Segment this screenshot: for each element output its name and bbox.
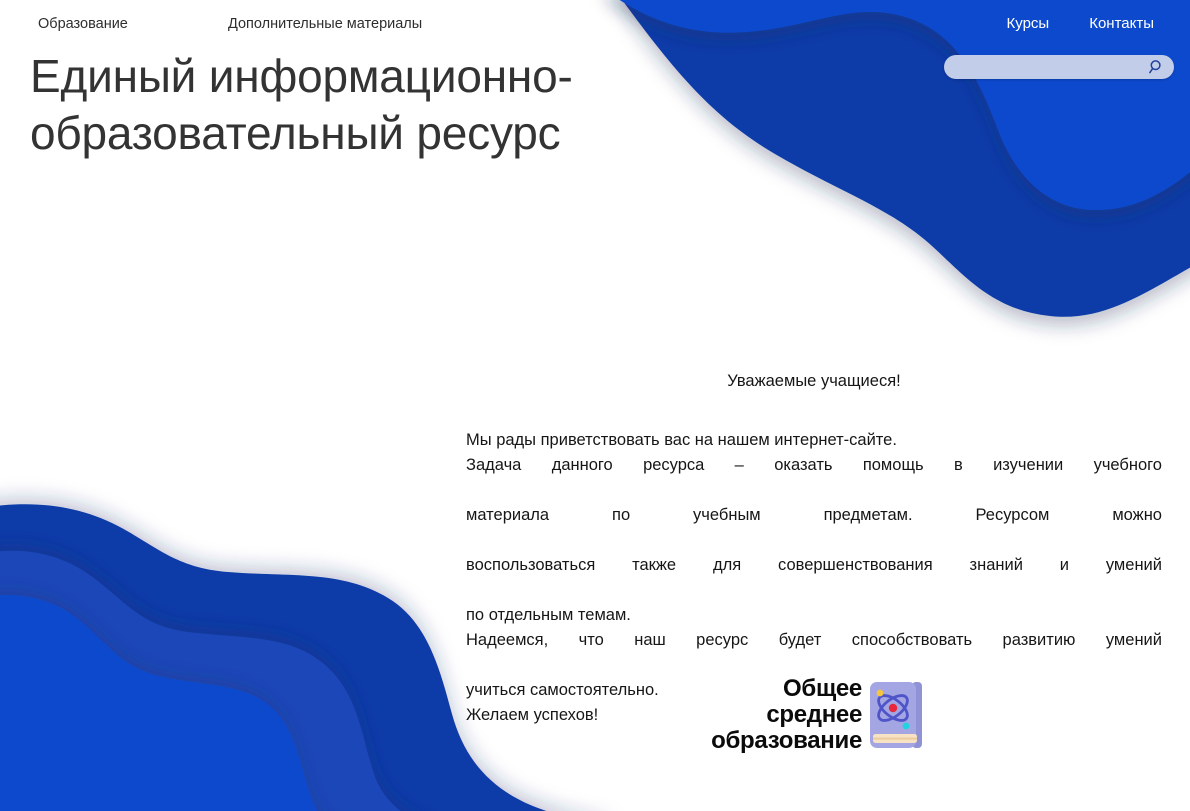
nav-link-contacts[interactable]: Контакты: [1089, 15, 1154, 33]
logo-text: Общее среднее образование: [711, 676, 862, 754]
body-line: воспользоваться также для совершенствова…: [466, 553, 1162, 603]
logo-line-2: среднее: [711, 702, 862, 728]
nav-link-courses[interactable]: Курсы: [1007, 15, 1050, 33]
decorative-wave-top-right: [560, 0, 1190, 356]
top-navigation: Образование Дополнительные материалы Кур…: [0, 0, 1190, 46]
nav-link-extra-materials[interactable]: Дополнительные материалы: [228, 15, 422, 33]
body-line: Мы рады приветствовать вас на нашем инте…: [466, 428, 1162, 453]
greeting-text: Уважаемые учащиеся!: [466, 370, 1162, 392]
page-root: Образование Дополнительные материалы Кур…: [0, 0, 1190, 811]
body-line: Надеемся, что наш ресурс будет способств…: [466, 628, 1162, 678]
nav-link-education[interactable]: Образование: [38, 15, 228, 33]
logo-line-1: Общее: [711, 676, 862, 702]
body-line: по отдельным темам.: [466, 603, 1162, 628]
logo[interactable]: Общее среднее образование: [666, 672, 924, 758]
logo-line-3: образование: [711, 728, 862, 754]
body-line: материала по учебным предметам. Ресурсом…: [466, 503, 1162, 553]
search-bar: [944, 55, 1174, 79]
body-line: Задача данного ресурса – оказать помощь …: [466, 453, 1162, 503]
nav-group-left: Образование Дополнительные материалы: [38, 15, 422, 33]
search-input[interactable]: [944, 55, 1174, 79]
nav-group-right: Курсы Контакты: [1007, 15, 1155, 33]
page-title: Единый информационно-образовательный рес…: [30, 48, 590, 162]
book-atom-icon: [868, 680, 924, 750]
